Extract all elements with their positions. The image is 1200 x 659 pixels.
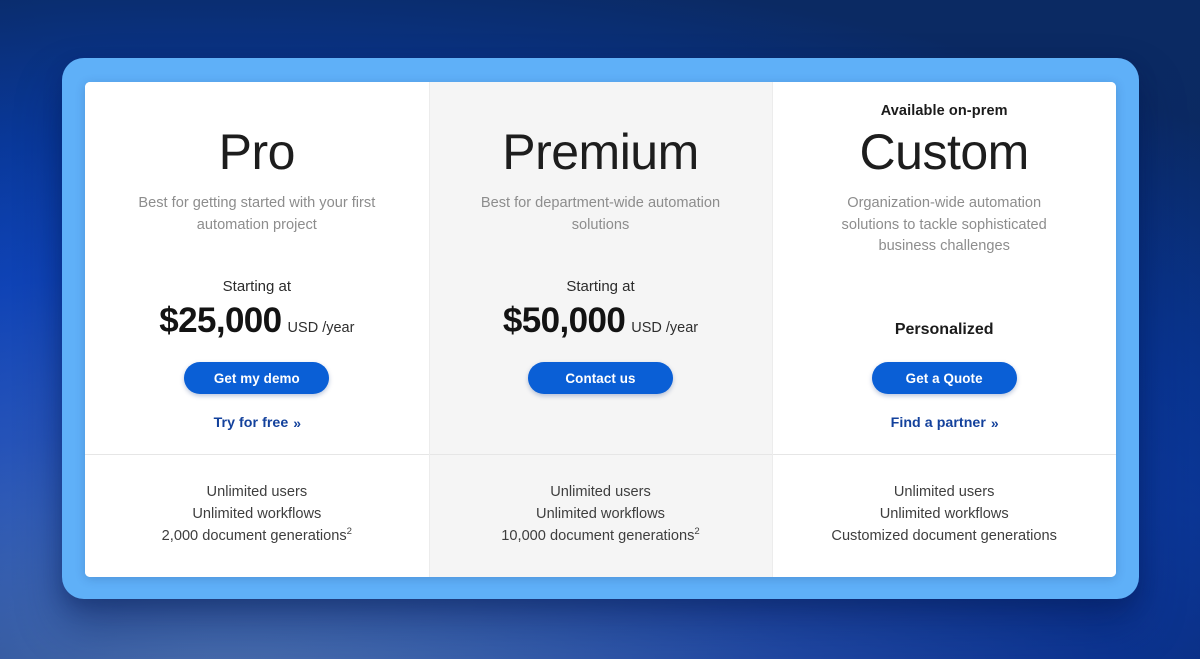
feature-text: Unlimited users: [894, 484, 995, 500]
plan-features-pro: Unlimited users Unlimited workflows 2,00…: [85, 454, 429, 577]
find-a-partner-link[interactable]: Find a partner »: [891, 414, 998, 431]
feature-item: Unlimited workflows: [192, 503, 321, 525]
plan-name-premium: Premium: [502, 126, 699, 179]
feature-text: Unlimited users: [207, 484, 308, 500]
price-block-pro: Starting at $25,000 USD /year: [103, 279, 411, 338]
price-block-premium: Starting at $50,000 USD /year: [447, 279, 755, 338]
price-amount-premium: $50,000: [503, 303, 625, 338]
price-row-pro: $25,000 USD /year: [159, 303, 354, 338]
plan-header-pro: Pro Best for getting started with your f…: [85, 82, 429, 454]
price-label-premium: Starting at: [566, 279, 634, 294]
find-a-partner-label: Find a partner: [891, 415, 986, 431]
price-unit-pro: USD /year: [288, 321, 355, 336]
pricing-table: Pro Best for getting started with your f…: [85, 82, 1116, 577]
price-label-pro: Starting at: [223, 279, 291, 294]
get-my-demo-button[interactable]: Get my demo: [184, 362, 329, 394]
try-for-free-link[interactable]: Try for free »: [214, 414, 301, 431]
feature-text: Unlimited workflows: [536, 506, 665, 522]
feature-text: Unlimited workflows: [880, 506, 1009, 522]
double-chevron-right-icon: »: [293, 416, 300, 430]
feature-text: Unlimited users: [550, 484, 651, 500]
plan-description-pro: Best for getting started with your first…: [129, 193, 384, 236]
feature-item: Unlimited users: [894, 481, 995, 503]
feature-text: 10,000 document generations: [501, 528, 694, 544]
cta-group-premium: Contact us: [447, 338, 755, 454]
feature-text: 2,000 document generations: [162, 528, 347, 544]
pricing-column-custom: Available on-prem Custom Organization-wi…: [772, 82, 1116, 577]
plan-header-premium: Premium Best for department-wide automat…: [429, 82, 773, 454]
plan-header-custom: Available on-prem Custom Organization-wi…: [772, 82, 1116, 454]
feature-item: Customized document generations: [831, 525, 1057, 547]
feature-item: Unlimited users: [207, 481, 308, 503]
contact-us-button[interactable]: Contact us: [528, 362, 673, 394]
feature-footnote-marker: 2: [347, 526, 352, 537]
plan-description-custom: Organization-wide automation solutions t…: [817, 193, 1072, 258]
price-amount-pro: $25,000: [159, 303, 281, 338]
plan-name-pro: Pro: [219, 126, 295, 179]
pricing-frame: Pro Best for getting started with your f…: [62, 58, 1139, 599]
price-block-custom: Personalized: [790, 310, 1098, 338]
feature-item: 10,000 document generations2: [501, 525, 699, 547]
feature-item: Unlimited workflows: [880, 503, 1009, 525]
price-row-premium: $50,000 USD /year: [503, 303, 698, 338]
try-for-free-label: Try for free: [214, 415, 289, 431]
feature-text: Customized document generations: [831, 528, 1057, 544]
feature-item: Unlimited users: [550, 481, 651, 503]
feature-footnote-marker: 2: [694, 526, 699, 537]
cta-group-custom: Get a Quote Find a partner »: [790, 338, 1098, 454]
plan-features-custom: Unlimited users Unlimited workflows Cust…: [772, 454, 1116, 577]
feature-item: 2,000 document generations2: [162, 525, 352, 547]
cta-group-pro: Get my demo Try for free »: [103, 338, 411, 454]
personalized-label: Personalized: [895, 310, 994, 338]
plan-name-custom: Custom: [860, 126, 1029, 179]
pricing-column-premium: Premium Best for department-wide automat…: [429, 82, 773, 577]
plan-badge-custom: Available on-prem: [881, 104, 1008, 120]
feature-item: Unlimited workflows: [536, 503, 665, 525]
plan-features-premium: Unlimited users Unlimited workflows 10,0…: [429, 454, 773, 577]
feature-text: Unlimited workflows: [192, 506, 321, 522]
double-chevron-right-icon: »: [991, 416, 998, 430]
get-a-quote-button[interactable]: Get a Quote: [872, 362, 1017, 394]
pricing-column-pro: Pro Best for getting started with your f…: [85, 82, 429, 577]
plan-description-premium: Best for department-wide automation solu…: [473, 193, 728, 236]
price-unit-premium: USD /year: [631, 321, 698, 336]
